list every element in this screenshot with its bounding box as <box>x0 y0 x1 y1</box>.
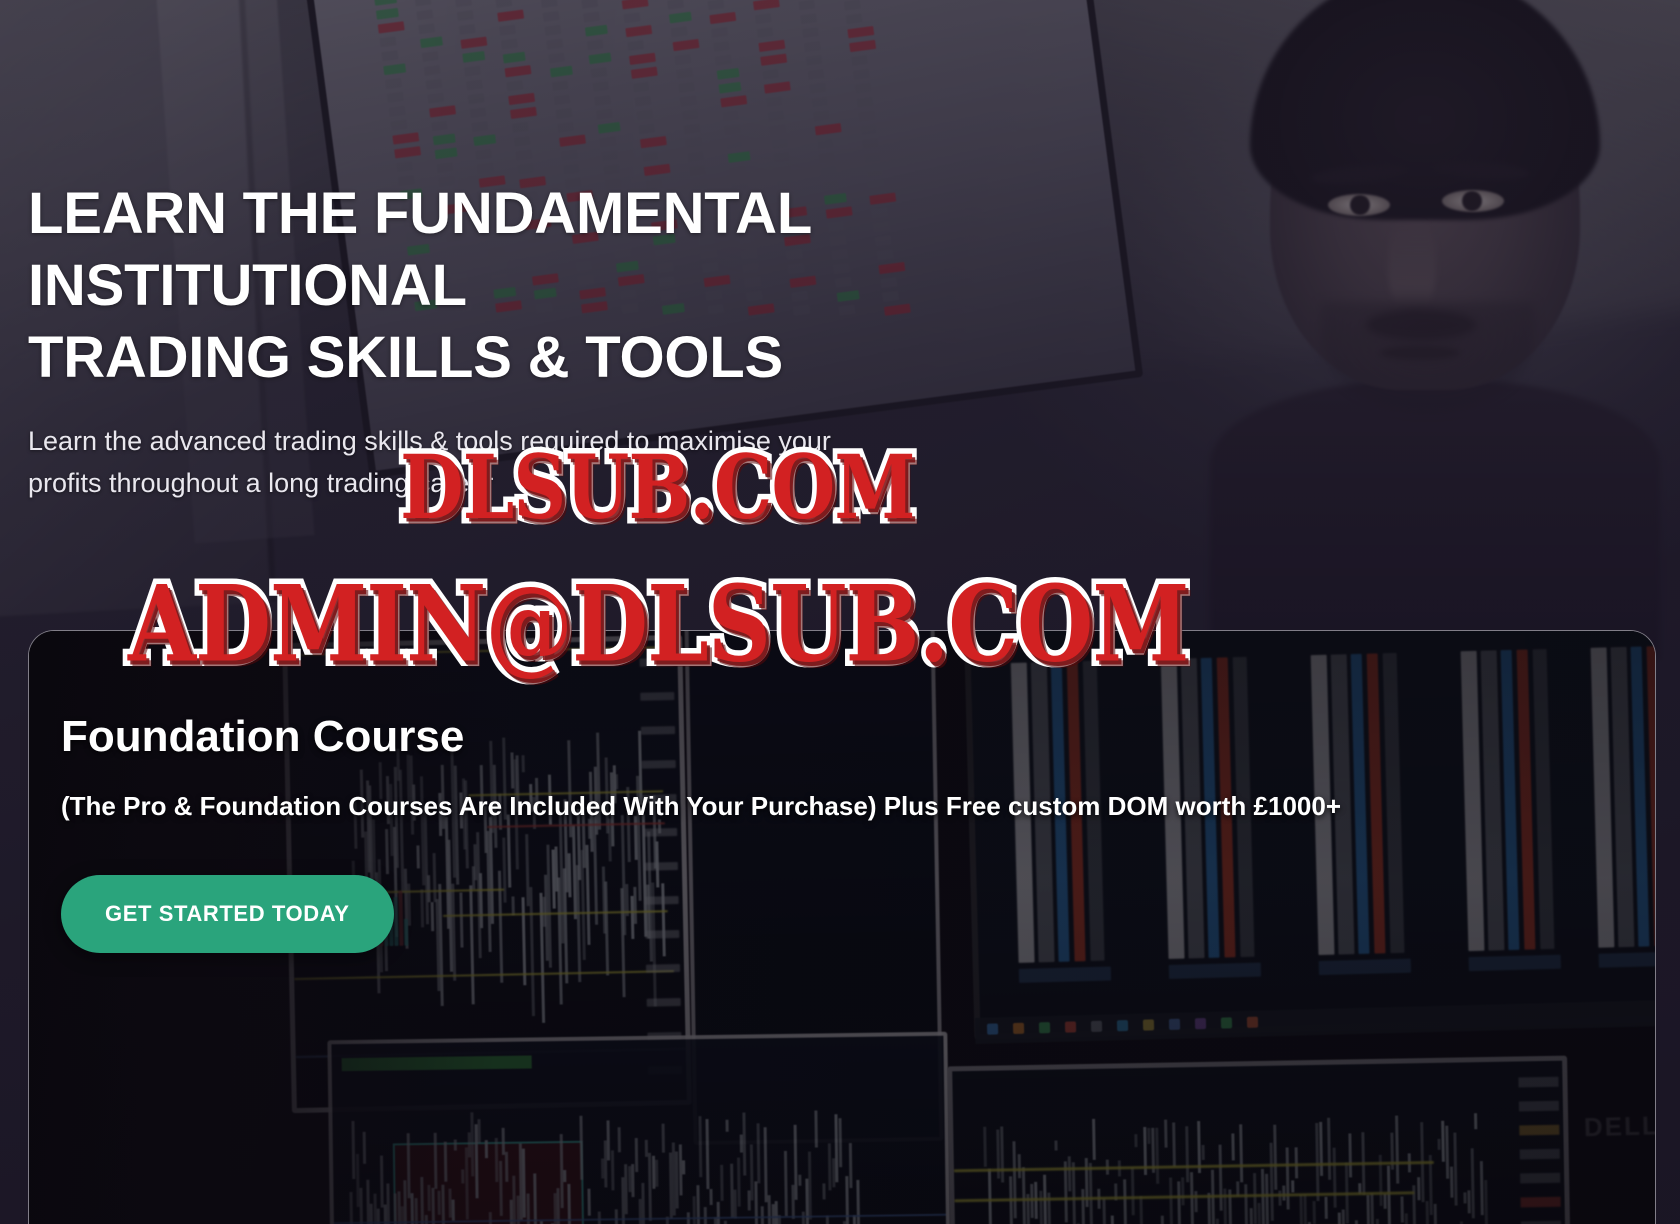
card-title: Foundation Course <box>61 709 1481 765</box>
card-content: Foundation Course (The Pro & Foundation … <box>61 709 1481 953</box>
hero-title-line-1: LEARN THE FUNDAMENTAL INSTITUTIONAL <box>28 181 811 318</box>
hero-title: LEARN THE FUNDAMENTAL INSTITUTIONAL TRAD… <box>28 178 1208 394</box>
watermark-email: ADMIN@DLSUB.COM <box>128 563 1188 686</box>
page-root: LEARN THE FUNDAMENTAL INSTITUTIONAL TRAD… <box>0 0 1680 1224</box>
card-description: (The Pro & Foundation Courses Are Includ… <box>61 783 1441 829</box>
watermark-site: DLSUB.COM <box>400 435 915 539</box>
get-started-today-button[interactable]: GET STARTED TODAY <box>61 875 394 953</box>
foundation-course-card[interactable]: DELL Foundation Course (The Pro & Founda… <box>28 630 1656 1224</box>
hero-title-line-2: TRADING SKILLS & TOOLS <box>28 325 783 390</box>
